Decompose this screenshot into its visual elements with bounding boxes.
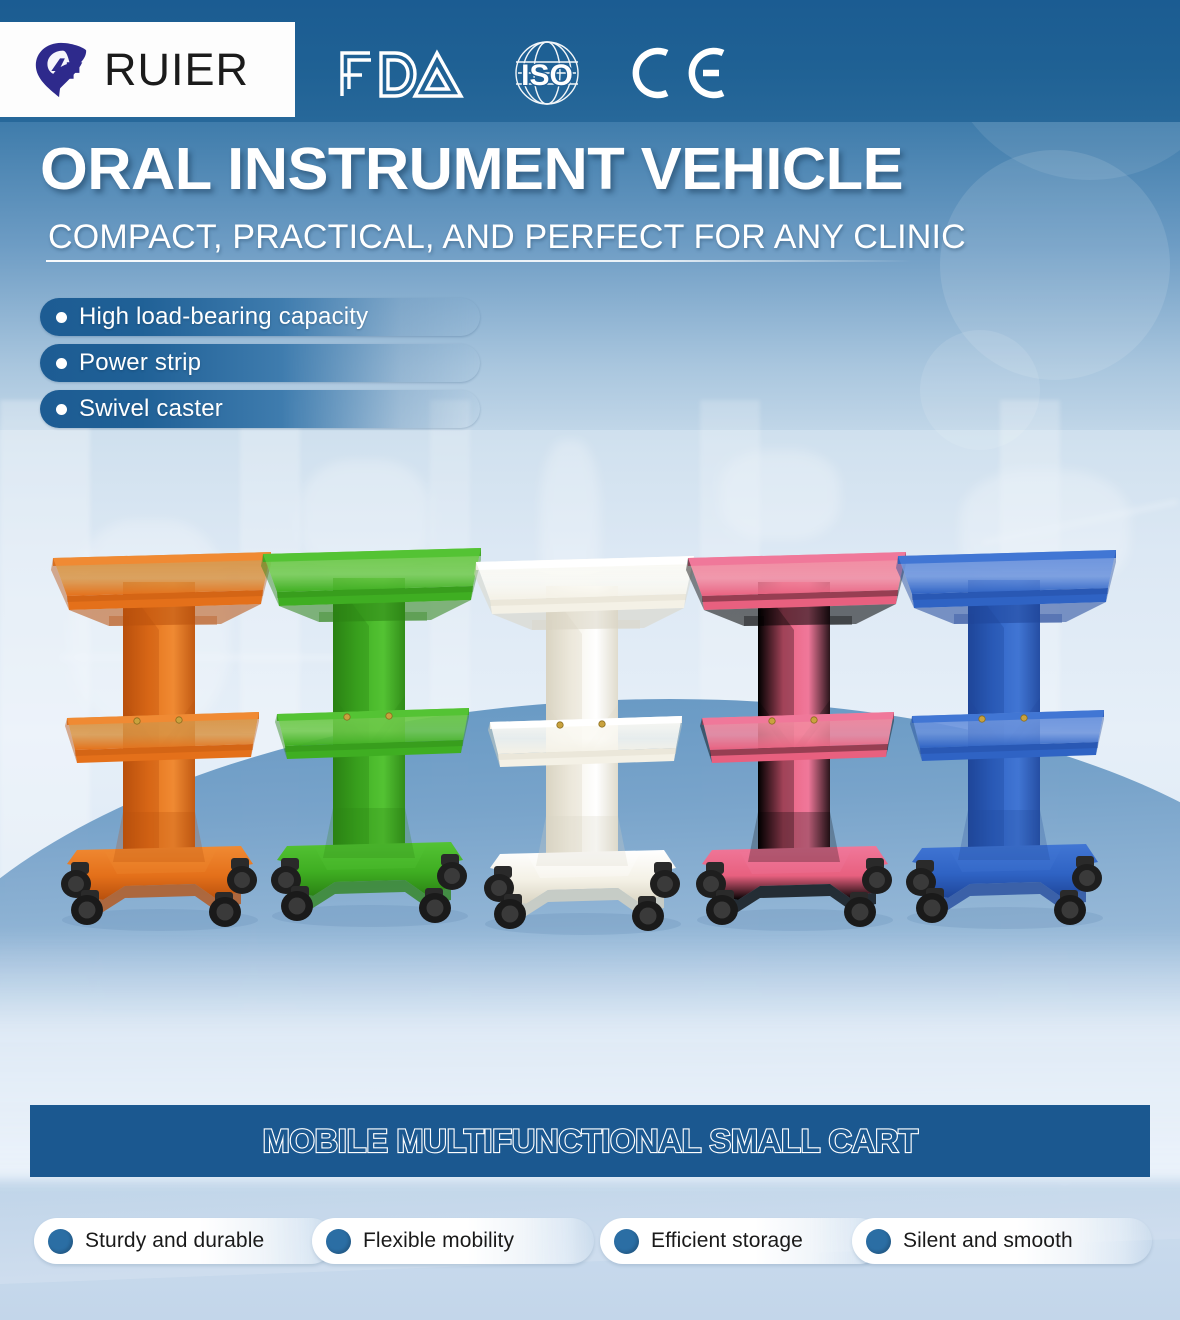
pill-dot-icon [326,1229,351,1254]
feature-label: High load-bearing capacity [79,303,368,331]
cart-orange[interactable] [45,512,275,932]
feature-label: Power strip [79,349,201,377]
benefit-pill[interactable]: Flexible mobility [312,1218,594,1264]
bottom-banner: MOBILE MULTIFUNCTIONAL SMALL CART [30,1105,1150,1177]
feature-item: High load-bearing capacity [40,298,480,336]
benefit-label: Flexible mobility [363,1229,514,1253]
cart-blue[interactable] [890,510,1120,930]
page-title: ORAL INSTRUMENT VEHICLE [40,140,903,199]
marketing-banner-page: RUIER [0,0,1180,1320]
benefit-label: Sturdy and durable [85,1229,264,1253]
cart-green[interactable] [255,508,485,928]
fda-badge-icon [337,45,467,101]
ruier-flame-leaf-logo-icon [30,39,92,101]
header-bar: RUIER [0,0,1180,122]
pill-dot-icon [866,1229,891,1254]
ce-mark-icon [627,43,731,103]
iso-globe-badge-icon: ISO [501,40,593,106]
cart-graphic [468,516,698,936]
bullet-dot-icon [56,404,67,415]
cart-graphic [45,512,275,932]
page-subtitle: COMPACT, PRACTICAL, AND PERFECT FOR ANY … [48,218,966,257]
bullet-dot-icon [56,312,67,323]
brand-name: RUIER [104,44,249,96]
benefit-label: Efficient storage [651,1229,803,1253]
banner-title: MOBILE MULTIFUNCTIONAL SMALL CART [262,1123,917,1160]
subtitle-underline [46,260,912,262]
feature-item: Power strip [40,344,480,382]
pill-dot-icon [614,1229,639,1254]
benefit-pill[interactable]: Efficient storage [600,1218,882,1264]
pill-dot-icon [48,1229,73,1254]
svg-text:ISO: ISO [521,59,573,92]
product-cart-row [0,500,1180,930]
benefit-pill[interactable]: Sturdy and durable [34,1218,334,1264]
cart-pink[interactable] [680,512,910,932]
feature-label: Swivel caster [79,395,223,423]
brand-logo[interactable]: RUIER [0,22,295,117]
cart-graphic [890,510,1120,930]
cart-white[interactable] [468,516,698,936]
footer-benefits: Sturdy and durable Flexible mobility Eff… [0,1218,1180,1274]
benefit-pill[interactable]: Silent and smooth [852,1218,1152,1264]
feature-list: High load-bearing capacity Power strip S… [40,298,700,436]
benefit-label: Silent and smooth [903,1229,1073,1253]
cart-graphic [255,508,485,928]
certification-badges: ISO [295,24,731,122]
cart-graphic [680,512,910,932]
bullet-dot-icon [56,358,67,369]
feature-item: Swivel caster [40,390,480,428]
